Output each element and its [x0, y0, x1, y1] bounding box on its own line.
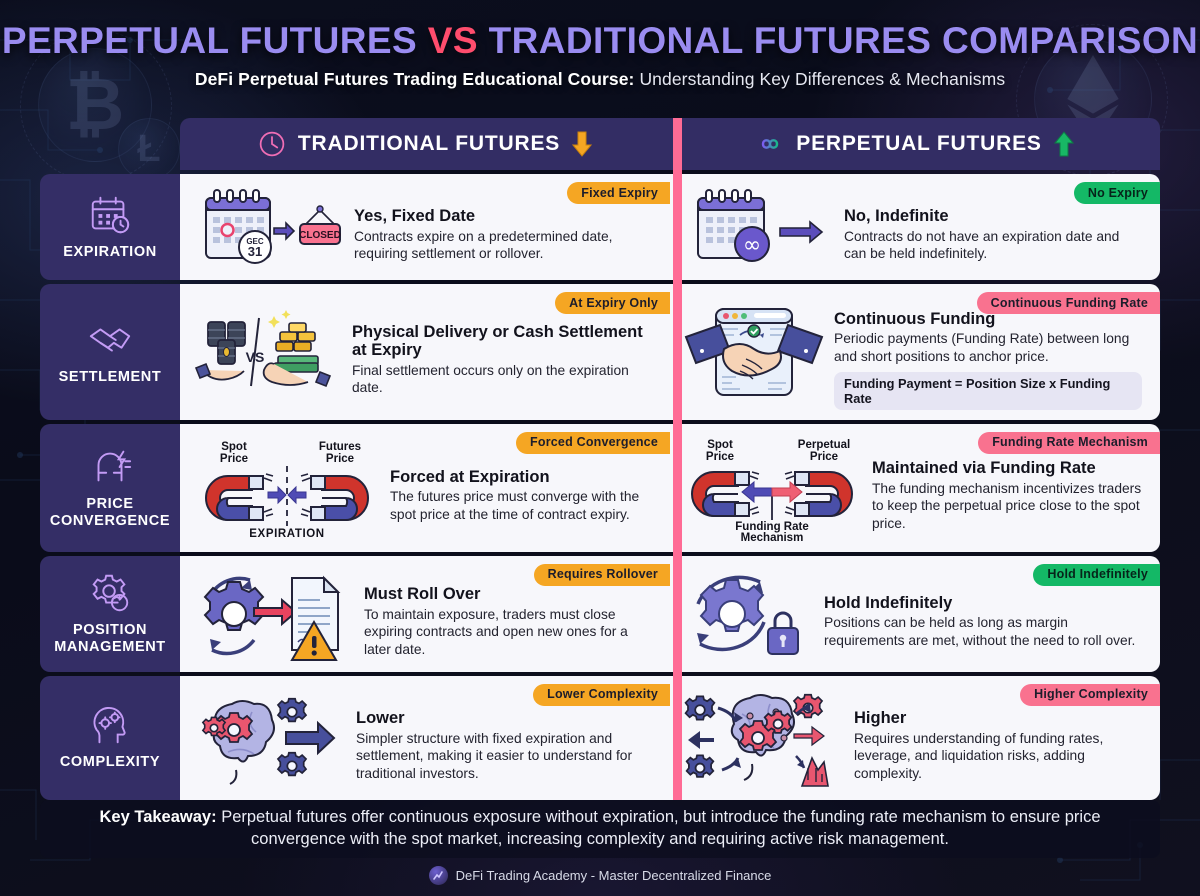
svg-text:Price: Price: [706, 451, 734, 463]
cell-description: Simpler structure with fixed expiration …: [356, 730, 652, 783]
status-badge: Higher Complexity: [1020, 684, 1160, 706]
illustration-gear-cycle-lock: [684, 566, 814, 662]
cell-traditional-price-convergence: Forced Convergence Spot Price Futures Pr…: [180, 424, 670, 552]
table-header-row: TRADITIONAL FUTURES PERPETUAL FUTURES: [180, 118, 1160, 170]
svg-text:CLOSED: CLOSED: [299, 230, 341, 241]
cell-traditional-position-management: Requires Rollover: [180, 556, 670, 672]
illustration-brain-gears-simple: [194, 690, 346, 786]
illustration-handshake-dashboard: [684, 303, 824, 401]
svg-text:31: 31: [248, 244, 262, 259]
category-label: PRICE CONVERGENCE: [44, 496, 176, 529]
comparison-table: TRADITIONAL FUTURES PERPETUAL FUTURES: [40, 118, 1160, 800]
cell-title: Maintained via Funding Rate: [872, 459, 1142, 477]
cell-description: To maintain exposure, traders must close…: [364, 606, 652, 659]
cell-perpetual-price-convergence: Funding Rate Mechanism Spot Price Perpet…: [670, 424, 1160, 552]
column-header-perpetual: PERPETUAL FUTURES: [670, 118, 1160, 170]
footer-text: DeFi Trading Academy - Master Decentrali…: [456, 868, 772, 883]
title-vs: VS: [428, 20, 478, 61]
table-row: POSITION MANAGEMENT Requires Rollover: [40, 556, 1160, 672]
category-settlement: SETTLEMENT: [40, 284, 180, 420]
title-part-1: PERPETUAL FUTURES: [2, 20, 428, 61]
svg-text:Price: Price: [220, 453, 248, 465]
svg-text:Price: Price: [810, 451, 838, 463]
key-takeaway-body: Perpetual futures offer continuous expos…: [217, 808, 1101, 848]
svg-text:EXPIRATION: EXPIRATION: [249, 528, 324, 540]
cell-perpetual-position-management: Hold Indefinitely: [670, 556, 1160, 672]
cell-text: Forced at Expiration The futures price m…: [390, 452, 658, 524]
svg-text:VS: VS: [246, 349, 265, 365]
calendar-clock-icon: [87, 192, 133, 238]
formula-badge: Funding Payment = Position Size x Fundin…: [834, 372, 1142, 410]
title-part-3: TRADITIONAL FUTURES COMPARISON: [478, 20, 1198, 61]
cell-text: Lower Simpler structure with fixed expir…: [356, 693, 658, 782]
category-complexity: COMPLEXITY: [40, 676, 180, 800]
cell-description: Periodic payments (Funding Rate) between…: [834, 330, 1142, 365]
illustration-brain-many-gears: [684, 686, 844, 790]
category-expiration: EXPIRATION: [40, 174, 180, 280]
status-badge: Lower Complexity: [533, 684, 670, 706]
status-badge: Hold Indefinitely: [1033, 564, 1160, 586]
illustration-gear-rollover-warning: [194, 566, 354, 662]
illustration-calendar-infinity: ∞: [684, 184, 834, 270]
subtitle-normal: Understanding Key Differences & Mechanis…: [634, 69, 1005, 89]
cell-title: Lower: [356, 709, 652, 727]
svg-text:Price: Price: [326, 453, 354, 465]
illustration-magnets-converging: Spot Price Futures Price: [194, 436, 380, 540]
cell-description: Contracts expire on a predetermined date…: [354, 228, 652, 263]
cell-title: Higher: [854, 709, 1142, 727]
category-label: EXPIRATION: [63, 244, 157, 261]
magnet-icon: [87, 444, 133, 490]
handshake-icon: [87, 317, 133, 363]
column-header-traditional-label: TRADITIONAL FUTURES: [298, 132, 560, 156]
illustration-calendar-closed: GEC 31 CLOSED: [194, 184, 344, 270]
table-row: SETTLEMENT At Expiry Only: [40, 284, 1160, 420]
cell-text: Hold Indefinitely Positions can be held …: [824, 578, 1148, 650]
cell-title: Hold Indefinitely: [824, 594, 1142, 612]
status-badge: Forced Convergence: [516, 432, 670, 454]
cell-text: Physical Delivery or Cash Settlement at …: [352, 307, 658, 397]
cell-description: Requires understanding of funding rates,…: [854, 730, 1142, 783]
footer: DeFi Trading Academy - Master Decentrali…: [0, 866, 1200, 885]
table-row: PRICE CONVERGENCE Forced Convergence Spo…: [40, 424, 1160, 552]
svg-text:Perpetual: Perpetual: [798, 439, 850, 451]
cell-title: Yes, Fixed Date: [354, 207, 652, 225]
column-header-traditional: TRADITIONAL FUTURES: [180, 118, 670, 170]
title-block: PERPETUAL FUTURES VS TRADITIONAL FUTURES…: [0, 22, 1200, 90]
cell-traditional-expiration: Fixed Expiry: [180, 174, 670, 280]
table-row: EXPIRATION Fixed Expiry: [40, 174, 1160, 280]
center-divider: [673, 118, 682, 800]
status-badge: Requires Rollover: [534, 564, 670, 586]
status-badge: At Expiry Only: [555, 292, 670, 314]
svg-text:Futures: Futures: [319, 441, 361, 453]
key-takeaway-label: Key Takeaway:: [100, 808, 217, 826]
cell-traditional-settlement: At Expiry Only VS: [180, 284, 670, 420]
svg-text:∞: ∞: [743, 233, 761, 258]
category-label: POSITION MANAGEMENT: [44, 622, 176, 655]
page-title: PERPETUAL FUTURES VS TRADITIONAL FUTURES…: [0, 22, 1200, 61]
svg-text:Spot: Spot: [707, 439, 733, 451]
cell-description: The funding mechanism incentivizes trade…: [872, 480, 1142, 533]
illustration-magnets-funding-rate: Spot Price Perpetual Price: [684, 434, 862, 542]
cell-description: Positions can be held as long as margin …: [824, 614, 1142, 649]
svg-text:Spot: Spot: [221, 441, 247, 453]
illustration-barrels-vs-gold: VS: [194, 306, 342, 398]
svg-text:Mechanism: Mechanism: [741, 532, 804, 542]
cell-traditional-complexity: Lower Complexity: [180, 676, 670, 800]
chart-line-logo-icon: [429, 866, 448, 885]
category-price-convergence: PRICE CONVERGENCE: [40, 424, 180, 552]
status-badge: Funding Rate Mechanism: [978, 432, 1160, 454]
cell-text: Higher Requires understanding of funding…: [854, 693, 1148, 782]
status-badge: Fixed Expiry: [567, 182, 670, 204]
cell-description: Final settlement occurs only on the expi…: [352, 362, 652, 397]
key-takeaway-text: Key Takeaway: Perpetual futures offer co…: [66, 807, 1134, 851]
subtitle-bold: DeFi Perpetual Futures Trading Education…: [195, 69, 635, 89]
cell-description: The futures price must converge with the…: [390, 488, 652, 523]
category-label: COMPLEXITY: [60, 754, 160, 771]
head-gears-icon: [87, 702, 133, 748]
cell-perpetual-expiration: No Expiry ∞: [670, 174, 1160, 280]
arrow-down-icon: [572, 131, 592, 157]
category-position-management: POSITION MANAGEMENT: [40, 556, 180, 672]
status-badge: Continuous Funding Rate: [977, 292, 1160, 314]
cell-perpetual-settlement: Continuous Funding Rate: [670, 284, 1160, 420]
infographic-page: ₿ Ł PERPETUAL FUTURES VS TRADITIONAL FUT…: [0, 0, 1200, 896]
gear-refresh-icon: [87, 570, 133, 616]
clock-icon: [258, 130, 286, 158]
page-subtitle: DeFi Perpetual Futures Trading Education…: [0, 69, 1200, 90]
cell-title: Forced at Expiration: [390, 468, 652, 486]
category-label: SETTLEMENT: [59, 369, 162, 386]
cell-text: Maintained via Funding Rate The funding …: [872, 443, 1148, 532]
infinity-icon: [756, 130, 784, 158]
status-badge: No Expiry: [1074, 182, 1160, 204]
cell-description: Contracts do not have an expiration date…: [844, 228, 1142, 263]
cell-title: Physical Delivery or Cash Settlement at …: [352, 323, 652, 360]
table-row: COMPLEXITY Lower Complexity: [40, 676, 1160, 800]
column-header-perpetual-label: PERPETUAL FUTURES: [796, 132, 1041, 156]
cell-perpetual-complexity: Higher Complexity: [670, 676, 1160, 800]
arrow-up-icon: [1054, 131, 1074, 157]
key-takeaway-box: Key Takeaway: Perpetual futures offer co…: [40, 800, 1160, 858]
cell-title: No, Indefinite: [844, 207, 1142, 225]
cell-title: Must Roll Over: [364, 585, 652, 603]
